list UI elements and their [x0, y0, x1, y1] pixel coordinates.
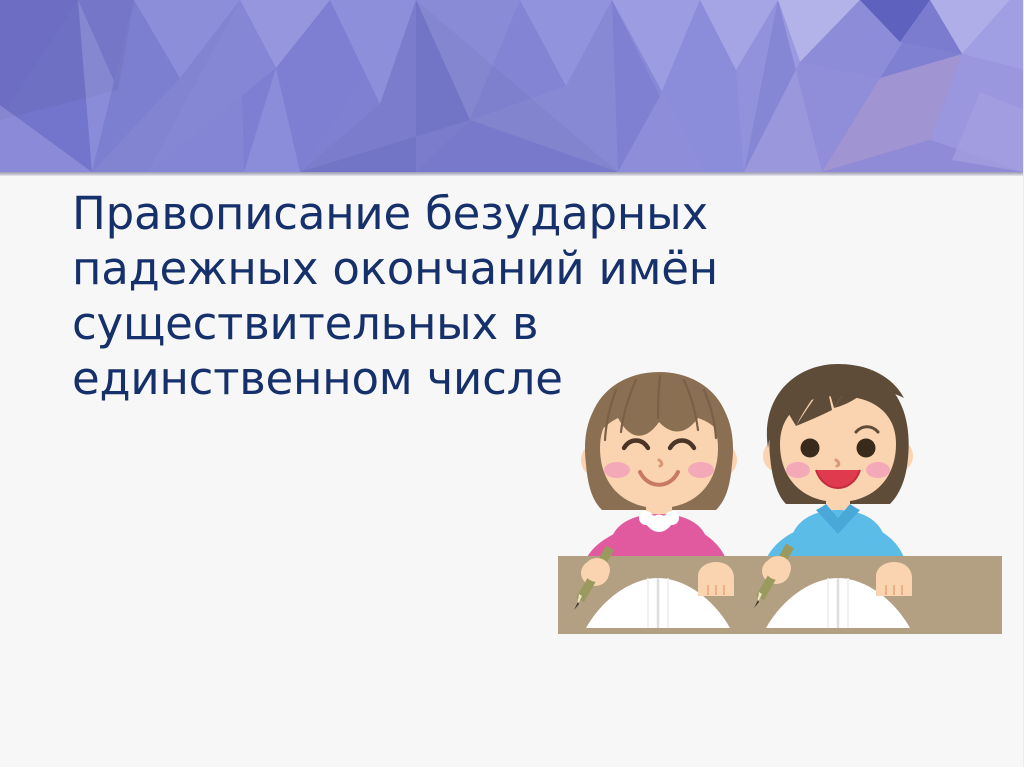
header-polygon-banner: [0, 0, 1024, 172]
header-divider-line: [0, 172, 1024, 176]
illustration-children-writing: [548, 352, 1018, 642]
polygon-pattern-graphic: [0, 0, 1024, 172]
presentation-slide: Правописание безударных падежных окончан…: [0, 0, 1024, 767]
children-at-desk-graphic: [548, 352, 1018, 642]
